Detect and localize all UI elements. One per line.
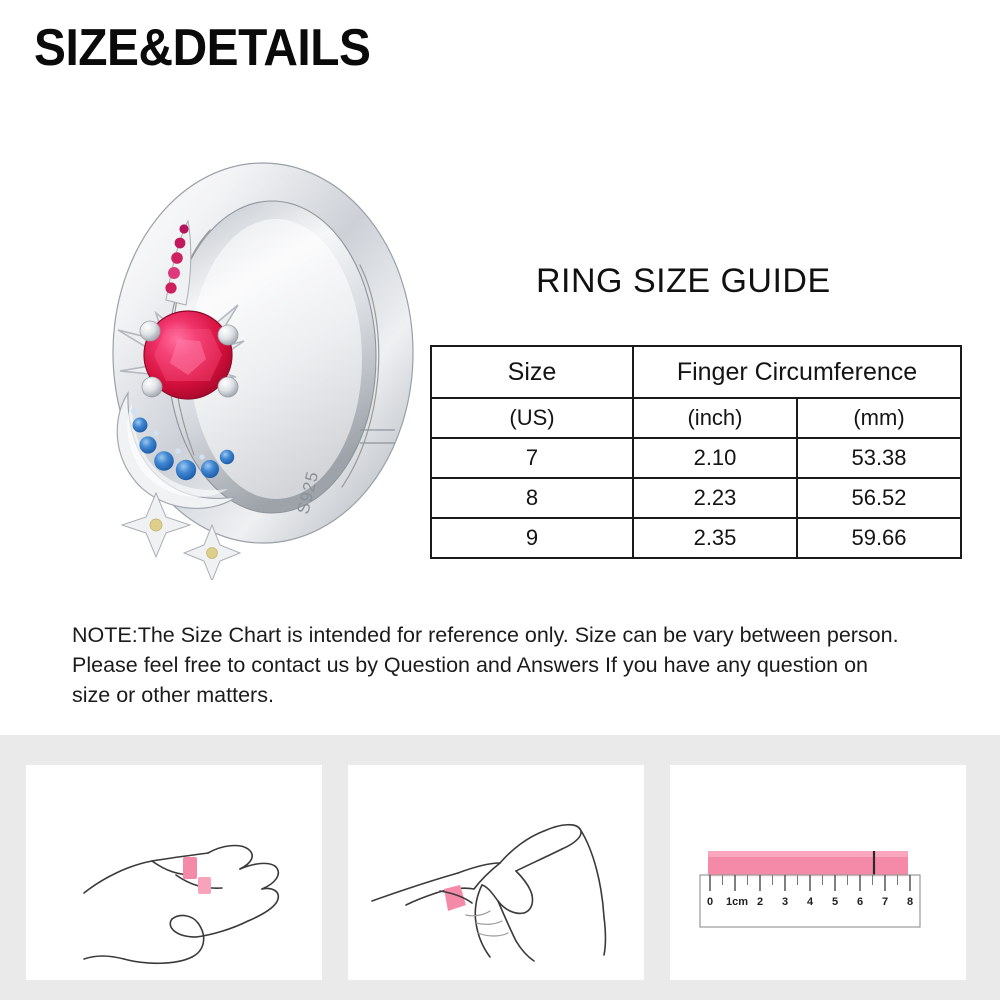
ruler-tick-7: 7 [882,896,888,908]
cell-mm: 59.66 [797,518,961,558]
ring-size-guide-heading: RING SIZE GUIDE [536,262,831,301]
table-row: 8 2.23 56.52 [431,478,961,518]
finger-marker-secondary [198,877,211,894]
measuring-hands-icon [372,825,606,961]
note-line-2: Please feel free to contact us by Questi… [72,650,962,680]
ruler-tick-4: 4 [807,896,814,908]
ruler-tick-2: 2 [757,896,763,908]
product-ring-image: S925 [60,125,460,580]
header-unit-us: (US) [431,398,633,438]
panel-ruler-illustration: 0 1cm 2 3 4 5 6 7 8 [670,765,966,980]
table-header-row-2: (US) (inch) (mm) [431,398,961,438]
cell-size: 7 [431,438,633,478]
cell-inch: 2.10 [633,438,797,478]
finger-marker-primary [183,857,197,879]
ring-size-table: Size Finger Circumference (US) (inch) (m… [430,345,962,559]
ruler-tick-1cm: 1cm [726,896,748,908]
cell-mm: 56.52 [797,478,961,518]
size-details-page: SIZE&DETAILS [0,0,1000,1000]
ruler-tick-3: 3 [782,896,788,908]
how-to-measure-strip: 0 1cm 2 3 4 5 6 7 8 [0,735,1000,1000]
cell-size: 9 [431,518,633,558]
hand-outline-icon [84,846,278,964]
ruler-tick-6: 6 [857,896,863,908]
ruler-tick-5: 5 [832,896,838,908]
size-chart-note: NOTE:The Size Chart is intended for refe… [72,620,962,710]
note-line-1: NOTE:The Size Chart is intended for refe… [72,620,962,650]
header-unit-mm: (mm) [797,398,961,438]
ruler-tick-8: 8 [907,896,913,908]
cell-mm: 53.38 [797,438,961,478]
panel-hand-illustration [26,765,322,980]
ruler-tick-0: 0 [707,896,713,908]
cell-inch: 2.35 [633,518,797,558]
table-row: 7 2.10 53.38 [431,438,961,478]
header-unit-inch: (inch) [633,398,797,438]
table-header-row-1: Size Finger Circumference [431,346,961,398]
panel-strip-measure-illustration [348,765,644,980]
pink-measuring-strip [708,851,908,877]
cell-size: 8 [431,478,633,518]
cell-inch: 2.23 [633,478,797,518]
header-finger-circumference: Finger Circumference [633,346,961,398]
note-line-3: size or other matters. [72,680,962,710]
page-title: SIZE&DETAILS [34,22,370,74]
ruler-icon: 0 1cm 2 3 4 5 6 7 8 [700,875,920,927]
header-size: Size [431,346,633,398]
table-row: 9 2.35 59.66 [431,518,961,558]
